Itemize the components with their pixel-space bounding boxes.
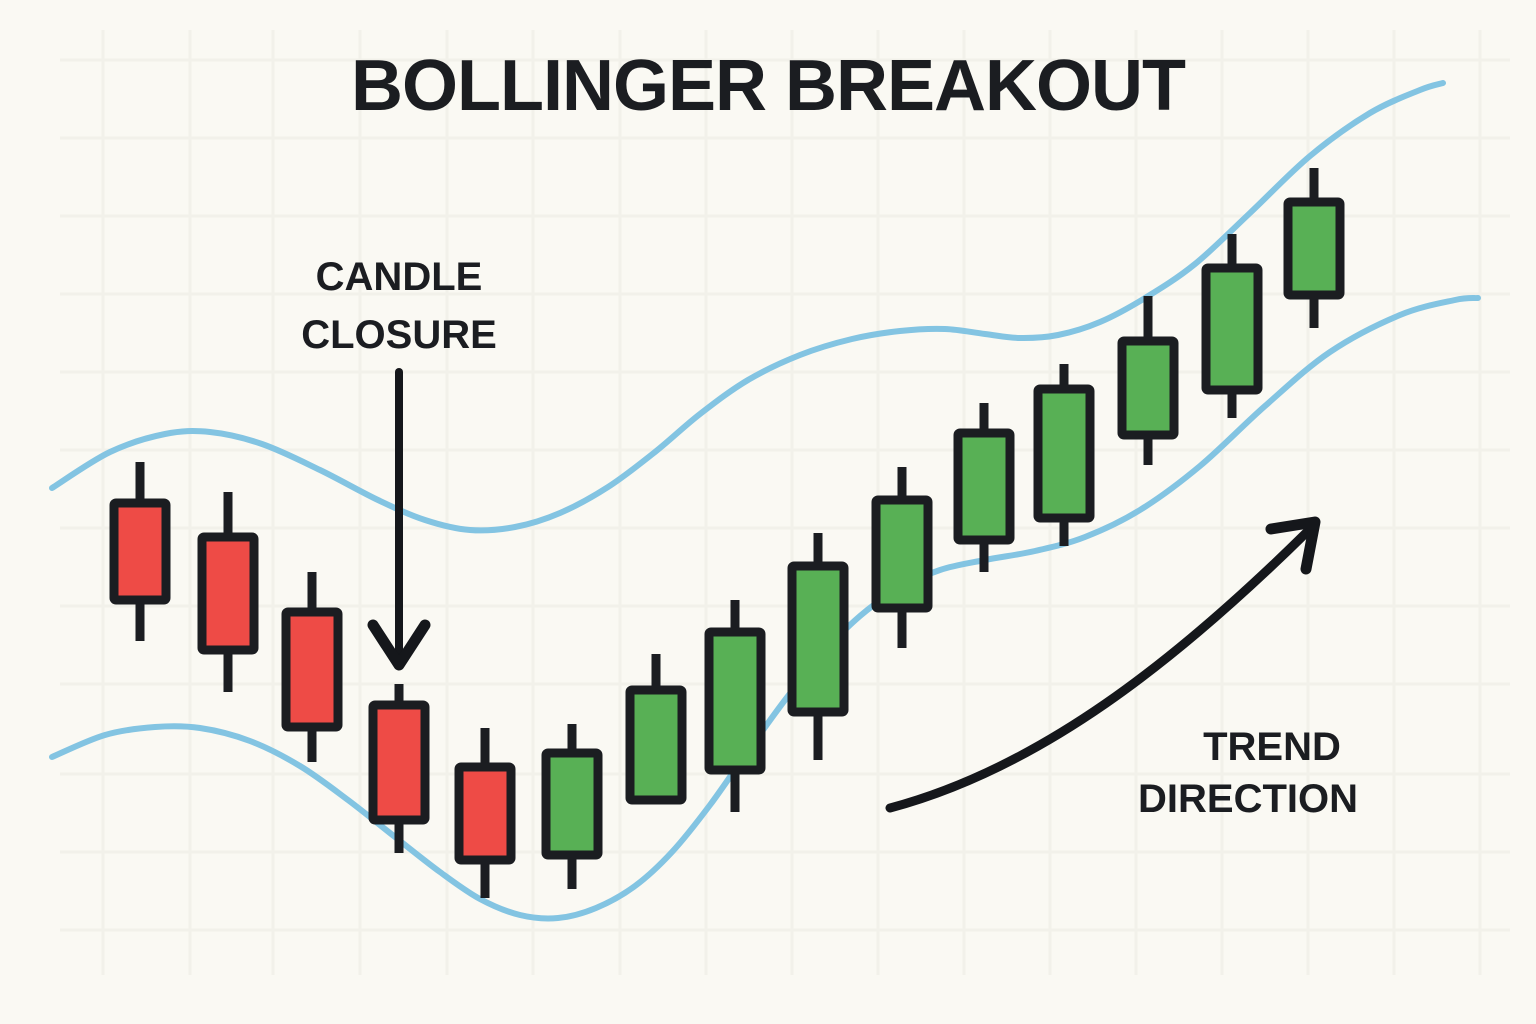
candle-body [876,500,928,608]
candle-body [546,753,598,855]
candle-closure-label-line1: CANDLE [316,255,483,299]
candle-body [459,767,511,860]
candle-closure-label-line2: CLOSURE [301,313,497,357]
candle-body [958,433,1010,540]
bollinger-breakout-chart: BOLLINGER BREAKOUT CANDLE CLOSURE TREND … [0,0,1536,1024]
candle-body [202,537,254,650]
trend-direction-label-line1: TREND [1203,725,1341,769]
candle-body [1038,389,1090,518]
page-title: BOLLINGER BREAKOUT [351,46,1186,126]
trend-direction-label-line2: DIRECTION [1138,777,1358,821]
candle-body [630,690,682,800]
candle-body [373,705,425,820]
candle-body [792,566,844,712]
candlestick-bullish [1038,364,1090,546]
chart-canvas: BOLLINGER BREAKOUT CANDLE CLOSURE TREND … [0,0,1536,1024]
candle-body [286,612,338,727]
candle-body [1122,341,1174,435]
candle-body [114,503,166,600]
candle-body [1288,202,1340,295]
candle-body [709,632,761,770]
candle-body [1206,268,1258,390]
